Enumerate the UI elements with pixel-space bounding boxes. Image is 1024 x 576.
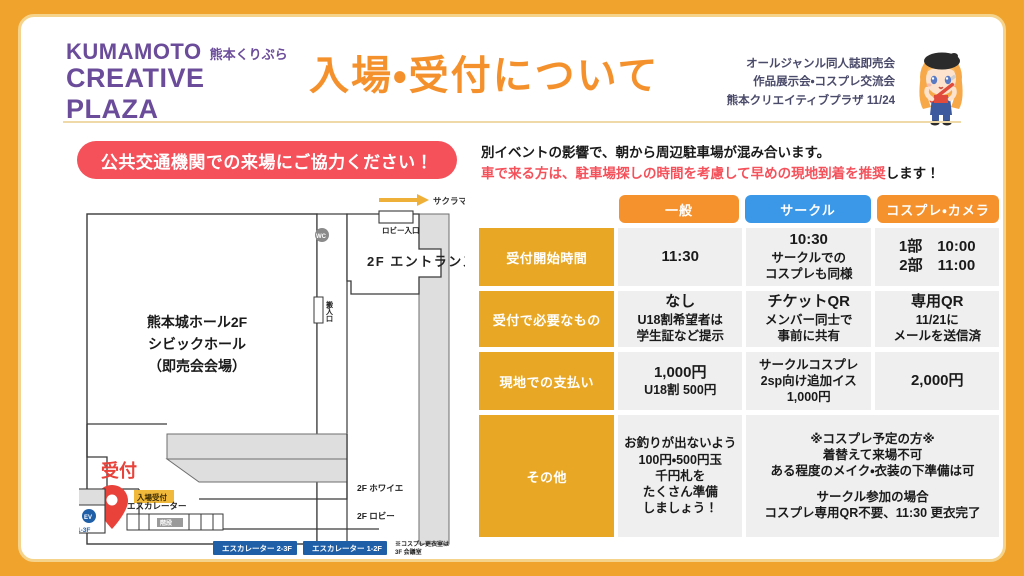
cell-line: U18割 500円	[644, 382, 716, 398]
cell-line: サークル参加の場合	[816, 489, 928, 505]
parking-warning-tail: します！	[886, 166, 940, 181]
public-transport-alert-badge: 公共交通機関での来場にご協力ください！	[77, 141, 457, 179]
logo-japanese-text: 熊本くりぷら	[210, 44, 288, 65]
column-header-general: 一般	[619, 195, 739, 223]
cell-line: 事前に共有	[777, 328, 840, 344]
cell-line: 1,000円	[654, 364, 707, 383]
sakuramachi-arrow-icon	[379, 194, 429, 206]
table-cell: チケットQRメンバー同士で事前に共有	[746, 291, 872, 347]
event-info-line-1: オールジャンル同人誌即売会	[727, 55, 895, 73]
row-label: 受付開始時間	[479, 228, 614, 286]
row-label: 受付で必要なもの	[479, 291, 614, 347]
page-title: 入場・受付について	[309, 43, 659, 101]
table-row: 受付開始時間11:3010:30サークルでのコスプレも同様1部 10:002部 …	[479, 228, 999, 286]
table-cell: 11:30	[618, 228, 742, 286]
cell-line: ある程度のメイク・衣装の下準備は可	[771, 463, 975, 479]
cell-line: 100円・500円玉	[639, 452, 722, 468]
cell-line: 1,000円	[787, 389, 831, 405]
brand-logo: KUMAMOTO 熊本くりぷら CREATIVE PLAZA	[66, 39, 296, 125]
map-label-2f-entrance: 2F エントランス	[367, 254, 465, 269]
table-cell: サークルコスプレ2sp向け追加イス1,000円	[746, 352, 872, 410]
map-label-ev: EV	[84, 515, 92, 521]
cell-line: チケットQR	[767, 293, 850, 312]
map-label-ev-floors: 1-3F	[79, 527, 90, 534]
map-label-escalator-23f: エスカレーター 2-3F	[222, 543, 292, 553]
cell-line: 着替えて来場不可	[823, 447, 922, 463]
map-label-foyer: 2F ホワイエ	[357, 483, 403, 493]
cell-line: メールを送信済	[893, 328, 981, 344]
map-label-hall-line1: 熊本城ホール2F	[147, 314, 248, 330]
cell-line: コスプレも同様	[765, 266, 853, 282]
header-divider	[63, 121, 961, 123]
row-label: 現地での支払い	[479, 352, 614, 410]
table-cell: 1部 10:002部 11:00	[875, 228, 999, 286]
cell-line: U18割希望者は	[637, 312, 722, 328]
cell-line: 千円札を	[655, 468, 705, 484]
column-header-cosplay-camera: コスプレ・カメラ	[877, 195, 999, 223]
column-header-circle: サークル	[745, 195, 871, 223]
cell-line: お釣りが出ないよう	[624, 435, 736, 451]
table-cell: 10:30サークルでのコスプレも同様	[746, 228, 872, 286]
table-header-row: 一般 サークル コスプレ・カメラ	[619, 195, 999, 223]
cell-line: 10:30	[790, 231, 828, 250]
cell-line: たくさん準備	[643, 484, 718, 500]
map-label-lobby: 2F ロビー	[357, 511, 395, 521]
map-label-lobby-entrance: ロビー入口	[382, 225, 420, 235]
map-label-reception: 受付	[101, 460, 137, 481]
svg-text:エスカレーター: エスカレーター	[127, 501, 187, 511]
table-cell: なしU18割希望者は学生証など提示	[618, 291, 742, 347]
cell-line: 11:30	[661, 248, 699, 267]
parking-warning-highlight: 車で来る方は、駐車場探しの時間を考慮して早めの現地到着を推奨	[481, 166, 886, 181]
cell-line: サークルコスプレ	[759, 357, 858, 373]
parking-warning-text: 別イベントの影響で、朝から周辺駐車場が混み合います。 車で来る方は、駐車場探しの…	[481, 143, 940, 185]
map-label-stairs: 階段	[160, 519, 173, 527]
map-note-line-2: 3F 会議室	[395, 548, 422, 556]
event-info-line-2: 作品展示会・コスプレ交流会	[727, 73, 895, 91]
row-label: その他	[479, 415, 614, 537]
mascot-character-icon	[907, 47, 975, 127]
cell-line: 専用QR	[911, 293, 964, 312]
table-row: 現地での支払い1,000円U18割 500円サークルコスプレ2sp向け追加イス1…	[479, 352, 999, 410]
map-label-escalator-12f: エスカレーター 1-2F	[312, 543, 382, 553]
table-cell: 1,000円U18割 500円	[618, 352, 742, 410]
header: KUMAMOTO 熊本くりぷら CREATIVE PLAZA 入場・受付について…	[21, 17, 1003, 105]
cell-line: サークルでの	[771, 250, 846, 266]
table-cell: お釣りが出ないよう100円・500円玉千円札をたくさん準備しましょう！	[618, 415, 742, 537]
cell-line: 11/21に	[916, 312, 959, 328]
poster-frame: KUMAMOTO 熊本くりぷら CREATIVE PLAZA 入場・受付について…	[0, 0, 1024, 576]
parking-warning-line-1: 別イベントの影響で、朝から周辺駐車場が混み合います。	[481, 143, 940, 164]
svg-text:WC: WC	[316, 234, 327, 240]
logo-creative-plaza-text: CREATIVE PLAZA	[66, 63, 296, 125]
cell-line: 2sp向け追加イス	[761, 373, 857, 389]
table-cell: 2,000円	[875, 352, 999, 410]
map-label-sakuramachi: サクラマチ 2F	[433, 196, 465, 206]
cell-line: なし	[665, 293, 695, 312]
event-info-line-3: 熊本クリエイティブプラザ 11/24	[727, 92, 895, 110]
cell-line: メンバー同士で	[765, 312, 853, 328]
cell-line: しましょう！	[643, 500, 718, 516]
parking-warning-line-2: 車で来る方は、駐車場探しの時間を考慮して早めの現地到着を推奨します！	[481, 164, 940, 185]
table-body: 受付開始時間11:3010:30サークルでのコスプレも同様1部 10:002部 …	[479, 228, 999, 537]
cell-line: コスプレ専用QR不要、11:30 更衣完了	[765, 505, 981, 521]
map-label-hall-line2: シビックホール	[148, 336, 246, 352]
table-row: その他お釣りが出ないよう100円・500円玉千円札をたくさん準備しましょう！※コ…	[479, 415, 999, 537]
table-cell: ※コスプレ予定の方※着替えて来場不可ある程度のメイク・衣装の下準備は可サークル参…	[746, 415, 999, 537]
cell-line: 2,000円	[911, 372, 964, 391]
cell-line: 1部 10:00	[899, 238, 976, 257]
info-table: 一般 サークル コスプレ・カメラ 受付開始時間11:3010:30サークルでのコ…	[479, 195, 999, 562]
logo-kumamoto-text: KUMAMOTO	[66, 39, 202, 65]
cell-line: ※コスプレ予定の方※	[810, 431, 934, 447]
map-note-line-1: ※コスプレ更衣室は	[395, 540, 449, 548]
venue-floor-map: サクラマチ 2F ロビー入口 2F エントランス WC	[79, 189, 465, 562]
floor-map-svg: サクラマチ 2F ロビー入口 2F エントランス WC	[79, 189, 465, 562]
table-cell: 専用QR11/21にメールを送信済	[875, 291, 999, 347]
map-label-hall-line3: （即売会会場）	[148, 358, 246, 374]
poster-card: KUMAMOTO 熊本くりぷら CREATIVE PLAZA 入場・受付について…	[18, 14, 1006, 562]
cell-line: 学生証など提示	[636, 328, 724, 344]
event-info: オールジャンル同人誌即売会 作品展示会・コスプレ交流会 熊本クリエイティブプラザ…	[727, 55, 895, 110]
cell-line: 2部 11:00	[899, 257, 975, 276]
table-row: 受付で必要なものなしU18割希望者は学生証など提示チケットQRメンバー同士で事前…	[479, 291, 999, 347]
